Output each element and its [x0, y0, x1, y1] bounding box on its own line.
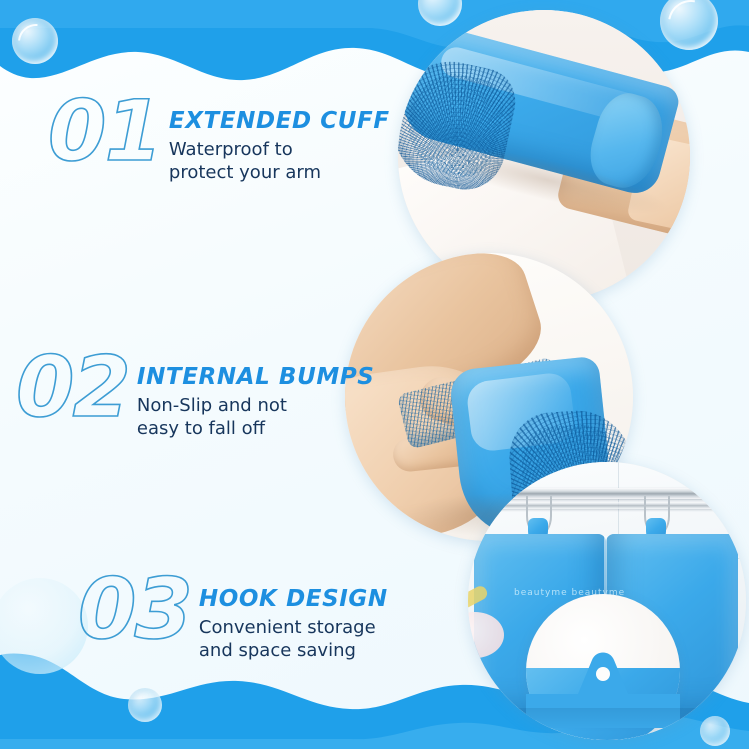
feature-number-01: 01: [48, 92, 161, 172]
feature-description-extended-cuff: Waterproof to protect your arm: [169, 138, 390, 185]
hook-design-photo: beautyme beautyme: [468, 462, 746, 740]
feature-description-hook-design: Convenient storage and space saving: [199, 616, 388, 663]
feature-item-hook-design: 03 HOOK DESIGN Convenient storage and sp…: [78, 570, 388, 663]
feature-number-03: 03: [78, 570, 191, 650]
feature-number-02: 02: [16, 348, 129, 428]
feature-title-internal-bumps: INTERNAL BUMPS: [137, 364, 375, 390]
feature-item-internal-bumps: 02 INTERNAL BUMPS Non-Slip and not easy …: [16, 348, 374, 441]
feature-title-hook-design: HOOK DESIGN: [199, 586, 388, 612]
hanging-rod: [482, 488, 734, 499]
infographic-page: beautyme beautyme 01 EXTENDED CUFF Water…: [0, 0, 749, 749]
feature-title-extended-cuff: EXTENDED CUFF: [169, 108, 390, 134]
feature-item-extended-cuff: 01 EXTENDED CUFF Waterproof to protect y…: [48, 92, 390, 185]
feature-list: 01 EXTENDED CUFF Waterproof to protect y…: [0, 0, 400, 749]
feature-description-internal-bumps: Non-Slip and not easy to fall off: [137, 394, 375, 441]
